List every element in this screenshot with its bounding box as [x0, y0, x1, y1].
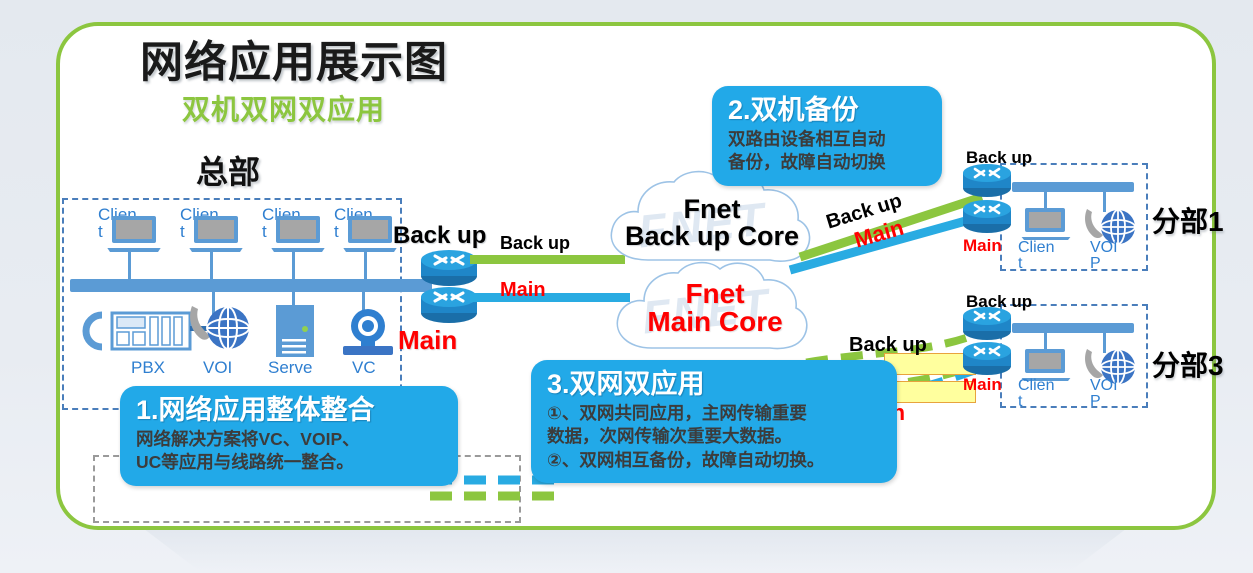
hq-device-server-label: Serve — [268, 358, 312, 378]
hq-client-2-label-line2: t — [180, 222, 185, 241]
hq-client-4-link — [364, 248, 367, 280]
router-icon — [960, 306, 1014, 342]
link-hq-main-core-label: Main — [500, 279, 546, 302]
branch-1-lan-bar — [1012, 182, 1134, 192]
branch-1-voip-label-line1: VOI — [1090, 239, 1118, 256]
branch-3-voip-label-line1: VOI — [1090, 377, 1118, 394]
link-hq-backup-core-label: Back up — [500, 233, 570, 254]
callout-3-body-line-1: ①、双网共同应用，主网传输重要 — [547, 402, 883, 425]
callout-2-body-line-2: 备份，故障自动切换 — [728, 151, 928, 174]
callout-2-body-line-1: 双路由设备相互自动 — [728, 128, 928, 151]
hq-router-backup-label: Back up — [393, 222, 486, 250]
hq-router-backup[interactable] — [418, 248, 480, 288]
hq-device-voip[interactable] — [186, 300, 256, 358]
vc-camera-icon — [339, 308, 397, 358]
server-icon — [272, 303, 318, 359]
hq-client-3-link — [292, 248, 295, 280]
callout-1-body-line-1: 网络解决方案将VC、VOIP、 — [136, 428, 444, 451]
hq-client-1-label-line2: t — [98, 222, 103, 241]
branch-3-client-label-line1: Clien — [1018, 377, 1054, 394]
branch-1-router-main[interactable] — [960, 199, 1014, 235]
callout-1[interactable]: 1.网络应用整体整合 网络解决方案将VC、VOIP、 UC等应用与线路统一整合。 — [120, 386, 458, 486]
branch-1-client-label-line1: Clien — [1018, 239, 1054, 256]
laptop-icon — [186, 214, 248, 256]
callout-2-title: 2.双机备份 — [728, 95, 928, 126]
hq-device-voip-label: VOI — [203, 358, 232, 378]
callout-1-title: 1.网络应用整体整合 — [136, 395, 444, 426]
hq-router-main-label: Main — [398, 325, 457, 356]
laptop-icon — [268, 214, 330, 256]
callout-3-body-line-3: ②、双网相互备份，故障自动切换。 — [547, 449, 883, 472]
hq-client-4-label-line2: t — [334, 222, 339, 241]
callout-1-body-line-2: UC等应用与线路统一整合。 — [136, 451, 444, 474]
hq-client-4[interactable]: Clien t — [334, 206, 402, 256]
callout-2[interactable]: 2.双机备份 双路由设备相互自动 备份，故障自动切换 — [712, 86, 942, 186]
hq-device-pbx-label: PBX — [131, 358, 165, 378]
hq-client-3[interactable]: Clien t — [262, 206, 330, 256]
branch-1-voip-label-line2: P — [1090, 255, 1101, 272]
router-icon — [960, 199, 1014, 235]
diagram-canvas: 网络应用展示图 双机双网双应用 总部 Clien t Clien t — [0, 0, 1253, 573]
cloud-main-core-line1: Fnet — [600, 280, 830, 308]
router-icon — [418, 285, 480, 325]
callout-3-title: 3.双网双应用 — [547, 369, 883, 400]
headquarters-title: 总部 — [196, 147, 260, 193]
hq-device-server[interactable] — [272, 303, 318, 359]
branch-1-client-label-line2: t — [1018, 255, 1022, 272]
branch-3-router-backup[interactable] — [960, 306, 1014, 342]
hq-client-2-link — [210, 248, 213, 280]
callout-3-body-line-2: 数据，次网传输次重要大数据。 — [547, 425, 883, 448]
hq-device-vc-label: VC — [352, 358, 376, 378]
hq-lan-backbone — [70, 279, 432, 292]
router-icon — [960, 163, 1014, 199]
laptop-icon — [104, 214, 166, 256]
router-icon — [960, 341, 1014, 377]
hq-router-main[interactable] — [418, 285, 480, 325]
branch-3-title: 分部3 — [1152, 344, 1224, 384]
branch-3-lan-bar — [1012, 323, 1134, 333]
hq-device-vc[interactable] — [339, 308, 397, 358]
branch-3-router-main[interactable] — [960, 341, 1014, 377]
branch-3-router-main-label: Main — [963, 375, 1002, 395]
page-title: 网络应用展示图 — [140, 28, 448, 90]
branch-1-title: 分部1 — [1152, 200, 1224, 240]
hq-client-1[interactable]: Clien t — [98, 206, 166, 256]
voip-globe-icon — [186, 300, 256, 358]
hq-client-3-label-line2: t — [262, 222, 267, 241]
branch-1-router-main-label: Main — [963, 236, 1002, 256]
router-icon — [418, 248, 480, 288]
branch-1-router-backup[interactable] — [960, 163, 1014, 199]
callout-3[interactable]: 3.双网双应用 ①、双网共同应用，主网传输重要 数据，次网传输次重要大数据。 ②… — [531, 360, 897, 483]
page-subtitle: 双机双网双应用 — [182, 88, 385, 128]
link-core-branch3-backup-label: Back up — [849, 334, 927, 357]
hq-client-1-link — [128, 248, 131, 280]
hq-client-2[interactable]: Clien t — [180, 206, 248, 256]
branch-3-voip-label-line2: P — [1090, 393, 1101, 410]
branch-3-client-label-line2: t — [1018, 393, 1022, 410]
